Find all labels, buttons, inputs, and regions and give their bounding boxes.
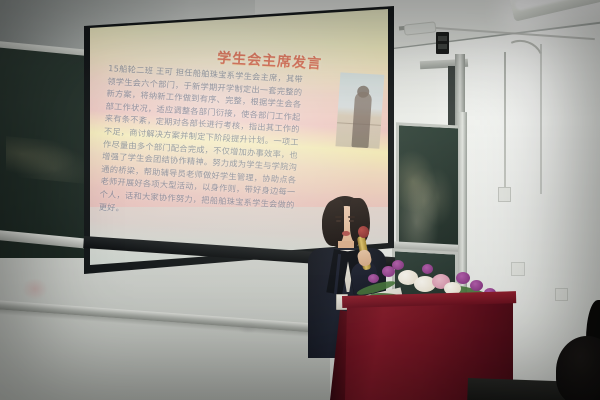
wall-socket: [511, 262, 525, 276]
eyebrow-left: [335, 216, 342, 218]
purple-orchid: [368, 274, 379, 283]
purple-orchid: [456, 272, 470, 284]
eye-right: [349, 220, 354, 222]
photo-scene: 学生会主席发言 15船轮二班 王可 担任船舶珠宝系学生会主席，其带领学生会六个部…: [0, 0, 600, 400]
photo-person-body: [351, 91, 372, 148]
slide-inset-photo: [335, 72, 384, 148]
purple-orchid: [422, 264, 433, 274]
wall-scuff: [238, 322, 258, 334]
hair-left-side: [322, 200, 344, 246]
chalkboard-right-upper: [396, 122, 464, 252]
eyebrow-right: [348, 216, 355, 218]
purple-orchid: [470, 280, 483, 291]
secondary-cable: [540, 44, 542, 194]
wall-mounted-box: [436, 32, 449, 54]
chalk-writing: [399, 125, 461, 248]
slide-body-text: 15船轮二班 王可 担任船舶珠宝系学生会主席，其带领学生会六个部门，于新学期开学…: [98, 63, 330, 227]
hanging-cable: [504, 52, 506, 189]
purple-orchid: [392, 260, 404, 270]
eye-left: [336, 220, 341, 222]
chalk-residue: [6, 136, 86, 184]
wall-socket: [555, 288, 568, 301]
wall-stain: [22, 278, 48, 300]
mouth: [342, 231, 350, 236]
cable-junction-box: [498, 187, 511, 202]
